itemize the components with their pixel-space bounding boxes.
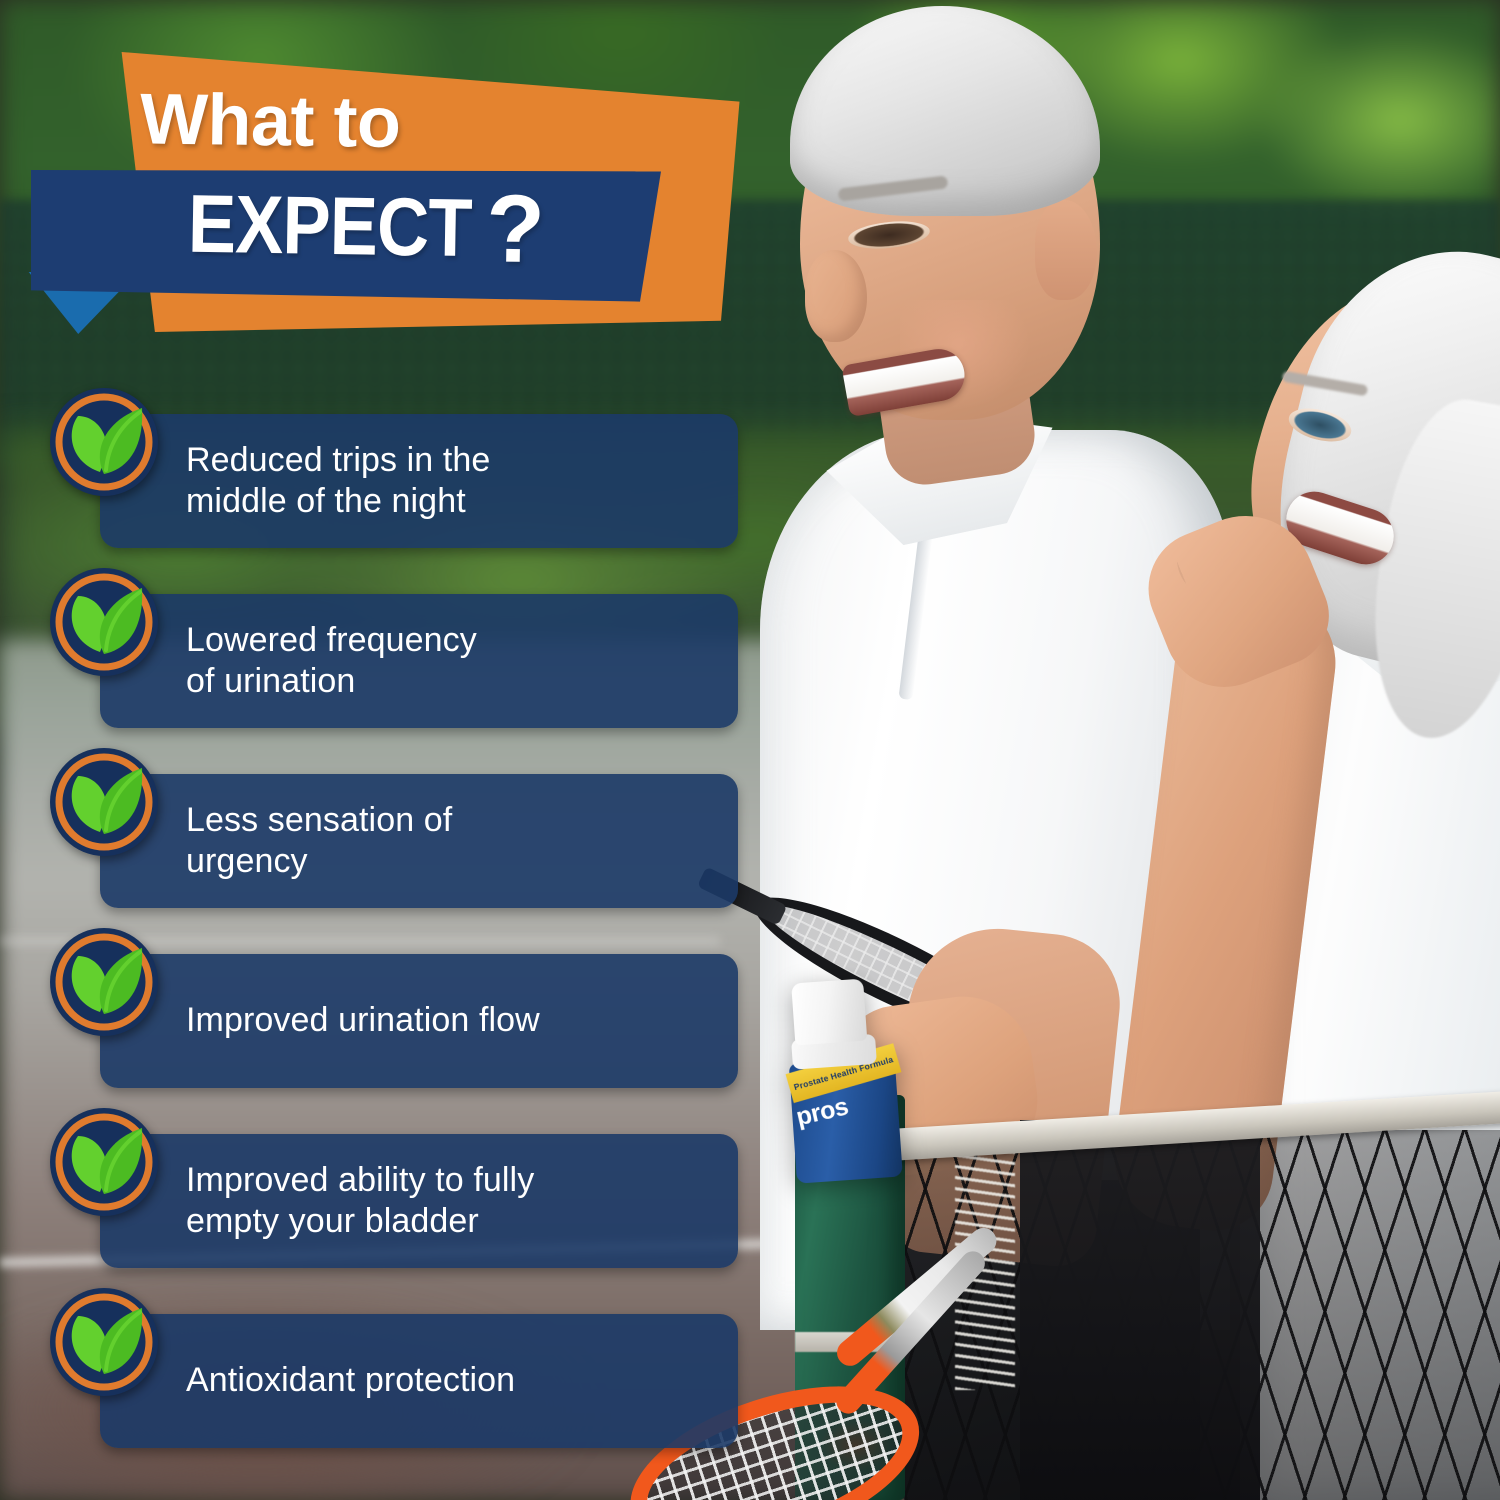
leaf-icon	[48, 1286, 160, 1398]
benefit-bar: Less sensation of urgency	[100, 774, 738, 908]
tennis-net-dark-panel	[1020, 1120, 1260, 1500]
leaf-icon	[48, 926, 160, 1038]
benefit-bar: Improved urination flow	[100, 954, 738, 1088]
bottle-cap	[791, 979, 867, 1046]
man-nose	[805, 250, 867, 342]
benefit-label: Reduced trips in the middle of the night	[100, 440, 512, 523]
leaf-icon	[48, 566, 160, 678]
benefit-bar: Lowered frequency of urination	[100, 594, 738, 728]
benefit-label: Improved urination flow	[100, 1000, 562, 1041]
benefit-bar: Reduced trips in the middle of the night	[100, 414, 738, 548]
benefit-bar: Antioxidant protection	[100, 1314, 738, 1448]
leaf-icon	[48, 386, 160, 498]
supplement-bottle: pros Prostate Health Formula	[783, 976, 909, 1183]
benefit-label: Improved ability to fully empty your bla…	[100, 1160, 556, 1243]
benefit-bar: Improved ability to fully empty your bla…	[100, 1134, 738, 1268]
leaf-icon	[48, 1106, 160, 1218]
leaf-icon	[48, 746, 160, 858]
man-ear	[1035, 200, 1097, 300]
benefit-label: Antioxidant protection	[100, 1360, 537, 1401]
benefits-list: Reduced trips in the middle of the night…	[0, 0, 780, 1500]
poster-canvas: pros Prostate Health Formula What to EXP…	[0, 0, 1500, 1500]
